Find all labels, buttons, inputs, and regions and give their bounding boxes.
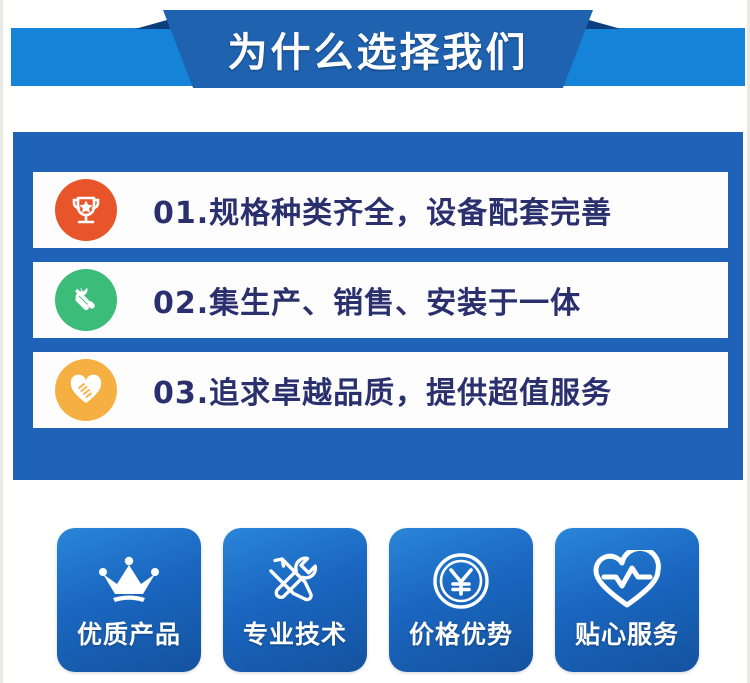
benefit-card-list: 优质产品 专业技术: [3, 528, 750, 678]
trophy-star-icon: [55, 179, 117, 241]
crown-icon: [93, 544, 165, 618]
feature-text: 03.追求卓越品质，提供超值服务: [153, 368, 612, 412]
feature-row: 02.集生产、销售、安装于一体: [33, 262, 728, 338]
feature-panel: 01.规格种类齐全，设备配套完善 02.集生产、销售、安装于一体: [13, 132, 743, 480]
benefit-card-label: 价格优势: [409, 622, 513, 647]
yen-coin-icon: [429, 544, 493, 618]
benefit-card-price-advantage[interactable]: 价格优势: [389, 528, 533, 672]
heart-pulse-icon: [591, 544, 663, 618]
benefit-card-label: 优质产品: [77, 622, 181, 647]
benefit-card-professional-tech[interactable]: 专业技术: [223, 528, 367, 672]
page-title: 为什么选择我们: [163, 10, 593, 88]
heart-handshake-icon: [55, 359, 117, 421]
feature-text: 02.集生产、销售、安装于一体: [153, 278, 581, 322]
benefit-card-label: 贴心服务: [575, 622, 679, 647]
benefit-card-label: 专业技术: [243, 622, 347, 647]
benefit-card-caring-service[interactable]: 贴心服务: [555, 528, 699, 672]
feature-row: 01.规格种类齐全，设备配套完善: [33, 172, 728, 248]
wrench-screwdriver-icon: [55, 269, 117, 331]
promo-page: 为什么选择我们 01.规格种类齐全，设备配套完善: [0, 0, 750, 683]
benefit-card-quality-product[interactable]: 优质产品: [57, 528, 201, 672]
feature-text: 01.规格种类齐全，设备配套完善: [153, 188, 612, 232]
wrench-screwdriver-cross-icon: [262, 544, 328, 618]
feature-row: 03.追求卓越品质，提供超值服务: [33, 352, 728, 428]
header-ribbon: 为什么选择我们: [3, 0, 750, 100]
